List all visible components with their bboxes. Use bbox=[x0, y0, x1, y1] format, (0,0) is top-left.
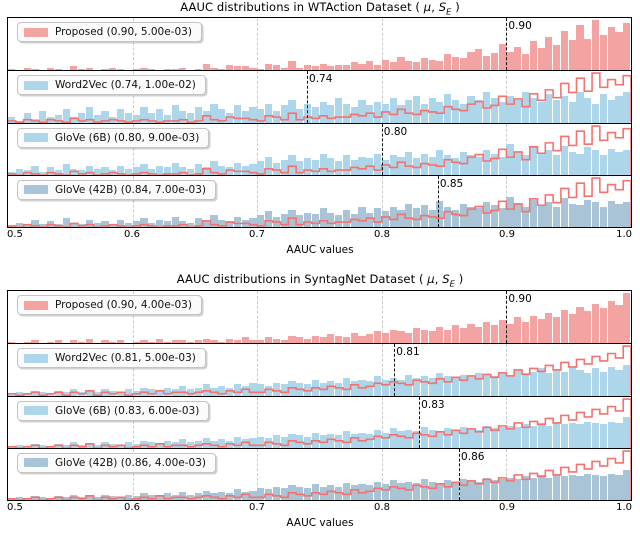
panel-proposed: 0.90Proposed (0.90, 5.00e-03) bbox=[8, 18, 631, 70]
hist-bar bbox=[506, 52, 513, 70]
legend-swatch bbox=[24, 458, 48, 467]
x-tick-label: 0.7 bbox=[249, 502, 265, 513]
x-tick-label: 0.5 bbox=[7, 502, 23, 513]
legend-label: Proposed (0.90, 5.00e-03) bbox=[55, 26, 192, 38]
hist-bar bbox=[421, 58, 428, 70]
chart-syntagnet: AAUC distributions in SyntagNet Dataset … bbox=[0, 272, 640, 543]
legend-swatch bbox=[24, 185, 48, 194]
hist-bar bbox=[545, 313, 552, 343]
hist-bar bbox=[405, 61, 412, 70]
legend-swatch bbox=[24, 133, 48, 142]
hist-bar bbox=[553, 45, 560, 70]
hist-bar bbox=[538, 48, 545, 70]
mean-marker-line bbox=[459, 449, 460, 500]
mean-marker-line bbox=[506, 291, 507, 343]
hist-bar bbox=[553, 317, 560, 343]
mean-marker-label: 0.81 bbox=[396, 346, 419, 358]
hist-bar bbox=[600, 35, 607, 71]
mean-marker-line bbox=[506, 18, 507, 70]
hist-bar bbox=[452, 57, 459, 70]
hist-bar bbox=[499, 44, 506, 70]
x-axis-label-syntagnet: AAUC values bbox=[0, 517, 640, 529]
hist-bar bbox=[467, 52, 474, 70]
hist-bar bbox=[545, 37, 552, 70]
hist-bar bbox=[444, 330, 451, 344]
panel-stack-wtaction: 0.90Proposed (0.90, 5.00e-03)0.74Word2Ve… bbox=[7, 17, 632, 228]
mean-marker-line bbox=[394, 344, 395, 395]
panel-glove-42b: 0.86GloVe (42B) (0.86, 4.00e-03) bbox=[8, 448, 631, 500]
hist-bar bbox=[584, 311, 591, 343]
hist-bar bbox=[444, 54, 451, 70]
hist-bar bbox=[366, 334, 373, 343]
mean-marker-label: 0.85 bbox=[440, 178, 463, 190]
legend-label: GloVe (42B) (0.84, 7.00e-03) bbox=[55, 184, 206, 196]
hist-bar bbox=[522, 54, 529, 70]
hist-bar bbox=[522, 322, 529, 343]
hist-bar bbox=[475, 327, 482, 344]
hist-bar bbox=[358, 64, 365, 71]
x-tick-label: 1.0 bbox=[616, 229, 632, 240]
hist-bar bbox=[561, 31, 568, 71]
hist-bar bbox=[561, 310, 568, 343]
hist-bar bbox=[351, 333, 358, 344]
hist-bar bbox=[608, 301, 615, 344]
hist-bar bbox=[397, 331, 404, 343]
hist-bar bbox=[576, 25, 583, 70]
legend-word2vec[interactable]: Word2Vec (0.74, 1.00e-02) bbox=[17, 75, 206, 95]
x-axis-label-wtaction: AAUC values bbox=[0, 244, 640, 256]
hist-bar bbox=[483, 322, 490, 343]
mean-marker-label: 0.83 bbox=[421, 399, 444, 411]
legend-proposed[interactable]: Proposed (0.90, 5.00e-03) bbox=[17, 22, 202, 42]
hist-bar bbox=[366, 61, 373, 70]
chart-wtaction: AAUC distributions in WTAction Dataset (… bbox=[0, 0, 640, 264]
hist-bar bbox=[569, 40, 576, 70]
legend-glove-6b[interactable]: GloVe (6B) (0.83, 6.00e-03) bbox=[17, 401, 209, 421]
hist-bar bbox=[615, 32, 622, 70]
hist-bar bbox=[413, 328, 420, 343]
hist-bar bbox=[327, 334, 334, 343]
legend-label: GloVe (6B) (0.83, 6.00e-03) bbox=[55, 405, 199, 417]
mean-marker-line bbox=[419, 397, 420, 448]
hist-bar bbox=[475, 49, 482, 70]
x-tick-label: 1.0 bbox=[616, 502, 632, 513]
figure-root: AAUC distributions in WTAction Dataset (… bbox=[0, 0, 640, 543]
hist-bar bbox=[390, 62, 397, 70]
panel-word2vec: 0.74Word2Vec (0.74, 1.00e-02) bbox=[8, 70, 631, 122]
x-tick-label: 0.9 bbox=[499, 502, 515, 513]
hist-bar bbox=[467, 324, 474, 344]
hist-bar bbox=[576, 307, 583, 343]
hist-bar bbox=[514, 47, 521, 71]
legend-swatch bbox=[24, 406, 48, 415]
hist-bar bbox=[506, 324, 513, 344]
hist-bar bbox=[312, 336, 319, 344]
hist-bar bbox=[623, 23, 630, 71]
mean-marker-line bbox=[307, 71, 308, 122]
hist-bar bbox=[584, 39, 591, 71]
legend-label: Word2Vec (0.81, 5.00e-03) bbox=[55, 352, 196, 364]
hist-bar bbox=[429, 60, 436, 71]
hist-bar bbox=[335, 336, 342, 344]
hist-bar bbox=[436, 61, 443, 70]
chart-title-wtaction: AAUC distributions in WTAction Dataset (… bbox=[0, 0, 640, 16]
hist-bar bbox=[374, 331, 381, 343]
mean-marker-label: 0.90 bbox=[508, 20, 531, 32]
hist-bar bbox=[452, 325, 459, 343]
mean-marker-label: 0.80 bbox=[384, 126, 407, 138]
hist-bar bbox=[413, 62, 420, 70]
mean-marker-line bbox=[438, 176, 439, 227]
panel-word2vec: 0.81Word2Vec (0.81, 5.00e-03) bbox=[8, 343, 631, 395]
legend-glove-6b[interactable]: GloVe (6B) (0.80, 9.00e-03) bbox=[17, 128, 209, 148]
legend-proposed[interactable]: Proposed (0.90, 4.00e-03) bbox=[17, 295, 202, 315]
hist-bar bbox=[429, 331, 436, 343]
panel-glove-6b: 0.83GloVe (6B) (0.83, 6.00e-03) bbox=[8, 396, 631, 448]
panel-glove-42b: 0.85GloVe (42B) (0.84, 7.00e-03) bbox=[8, 175, 631, 227]
chart-title-syntagnet: AAUC distributions in SyntagNet Dataset … bbox=[0, 272, 640, 288]
legend-glove-42b[interactable]: GloVe (42B) (0.86, 4.00e-03) bbox=[17, 453, 216, 473]
hist-bar bbox=[600, 308, 607, 343]
legend-label: GloVe (6B) (0.80, 9.00e-03) bbox=[55, 132, 199, 144]
x-tick-label: 0.8 bbox=[374, 502, 390, 513]
hist-bar bbox=[382, 60, 389, 71]
hist-bar bbox=[460, 58, 467, 70]
hist-bar bbox=[569, 314, 576, 343]
hist-bar bbox=[397, 57, 404, 70]
hist-bar bbox=[530, 41, 537, 70]
mean-marker-label: 0.86 bbox=[461, 451, 484, 463]
hist-bar bbox=[491, 325, 498, 343]
x-tick-label: 0.8 bbox=[374, 229, 390, 240]
legend-glove-42b[interactable]: GloVe (42B) (0.84, 7.00e-03) bbox=[17, 180, 216, 200]
legend-label: GloVe (42B) (0.86, 4.00e-03) bbox=[55, 457, 206, 469]
x-tick-label: 0.6 bbox=[124, 502, 140, 513]
hist-bar bbox=[592, 20, 599, 70]
hist-bar bbox=[514, 317, 521, 343]
legend-label: Word2Vec (0.74, 1.00e-02) bbox=[55, 79, 196, 91]
legend-word2vec[interactable]: Word2Vec (0.81, 5.00e-03) bbox=[17, 348, 206, 368]
hist-bar bbox=[382, 333, 389, 344]
hist-bar bbox=[623, 293, 630, 343]
hist-bar bbox=[608, 27, 615, 71]
hist-bar bbox=[530, 316, 537, 343]
hist-bar bbox=[499, 320, 506, 343]
x-tick-label: 0.9 bbox=[499, 229, 515, 240]
mean-marker-label: 0.74 bbox=[309, 73, 332, 85]
hist-bar bbox=[436, 327, 443, 344]
hist-bar bbox=[405, 333, 412, 344]
hist-bar bbox=[288, 336, 295, 344]
x-axis-wtaction: 0.50.60.70.80.91.0 bbox=[7, 229, 632, 243]
x-tick-label: 0.7 bbox=[249, 229, 265, 240]
hist-bar bbox=[491, 53, 498, 70]
hist-bar bbox=[390, 330, 397, 344]
legend-swatch bbox=[24, 81, 48, 90]
hist-bar bbox=[288, 61, 295, 70]
hist-bar bbox=[538, 319, 545, 343]
mean-marker-line bbox=[382, 124, 383, 175]
hist-bar bbox=[421, 330, 428, 344]
hist-bar bbox=[615, 305, 622, 343]
x-tick-label: 0.6 bbox=[124, 229, 140, 240]
panel-stack-syntagnet: 0.90Proposed (0.90, 4.00e-03)0.81Word2Ve… bbox=[7, 290, 632, 501]
hist-bar bbox=[320, 64, 327, 71]
hist-bar bbox=[483, 56, 490, 71]
legend-swatch bbox=[24, 354, 48, 363]
legend-swatch bbox=[24, 28, 48, 37]
legend-swatch bbox=[24, 301, 48, 310]
hist-bar bbox=[358, 336, 365, 344]
legend-label: Proposed (0.90, 4.00e-03) bbox=[55, 299, 192, 311]
hist-bar bbox=[592, 304, 599, 344]
x-tick-label: 0.5 bbox=[7, 229, 23, 240]
hist-bar bbox=[203, 64, 210, 71]
hist-bar bbox=[460, 328, 467, 343]
mean-marker-label: 0.90 bbox=[508, 293, 531, 305]
panel-glove-6b: 0.80GloVe (6B) (0.80, 9.00e-03) bbox=[8, 123, 631, 175]
x-axis-syntagnet: 0.50.60.70.80.91.0 bbox=[7, 502, 632, 516]
hist-bar bbox=[265, 64, 272, 71]
hist-bar bbox=[351, 62, 358, 70]
panel-proposed: 0.90Proposed (0.90, 4.00e-03) bbox=[8, 291, 631, 343]
